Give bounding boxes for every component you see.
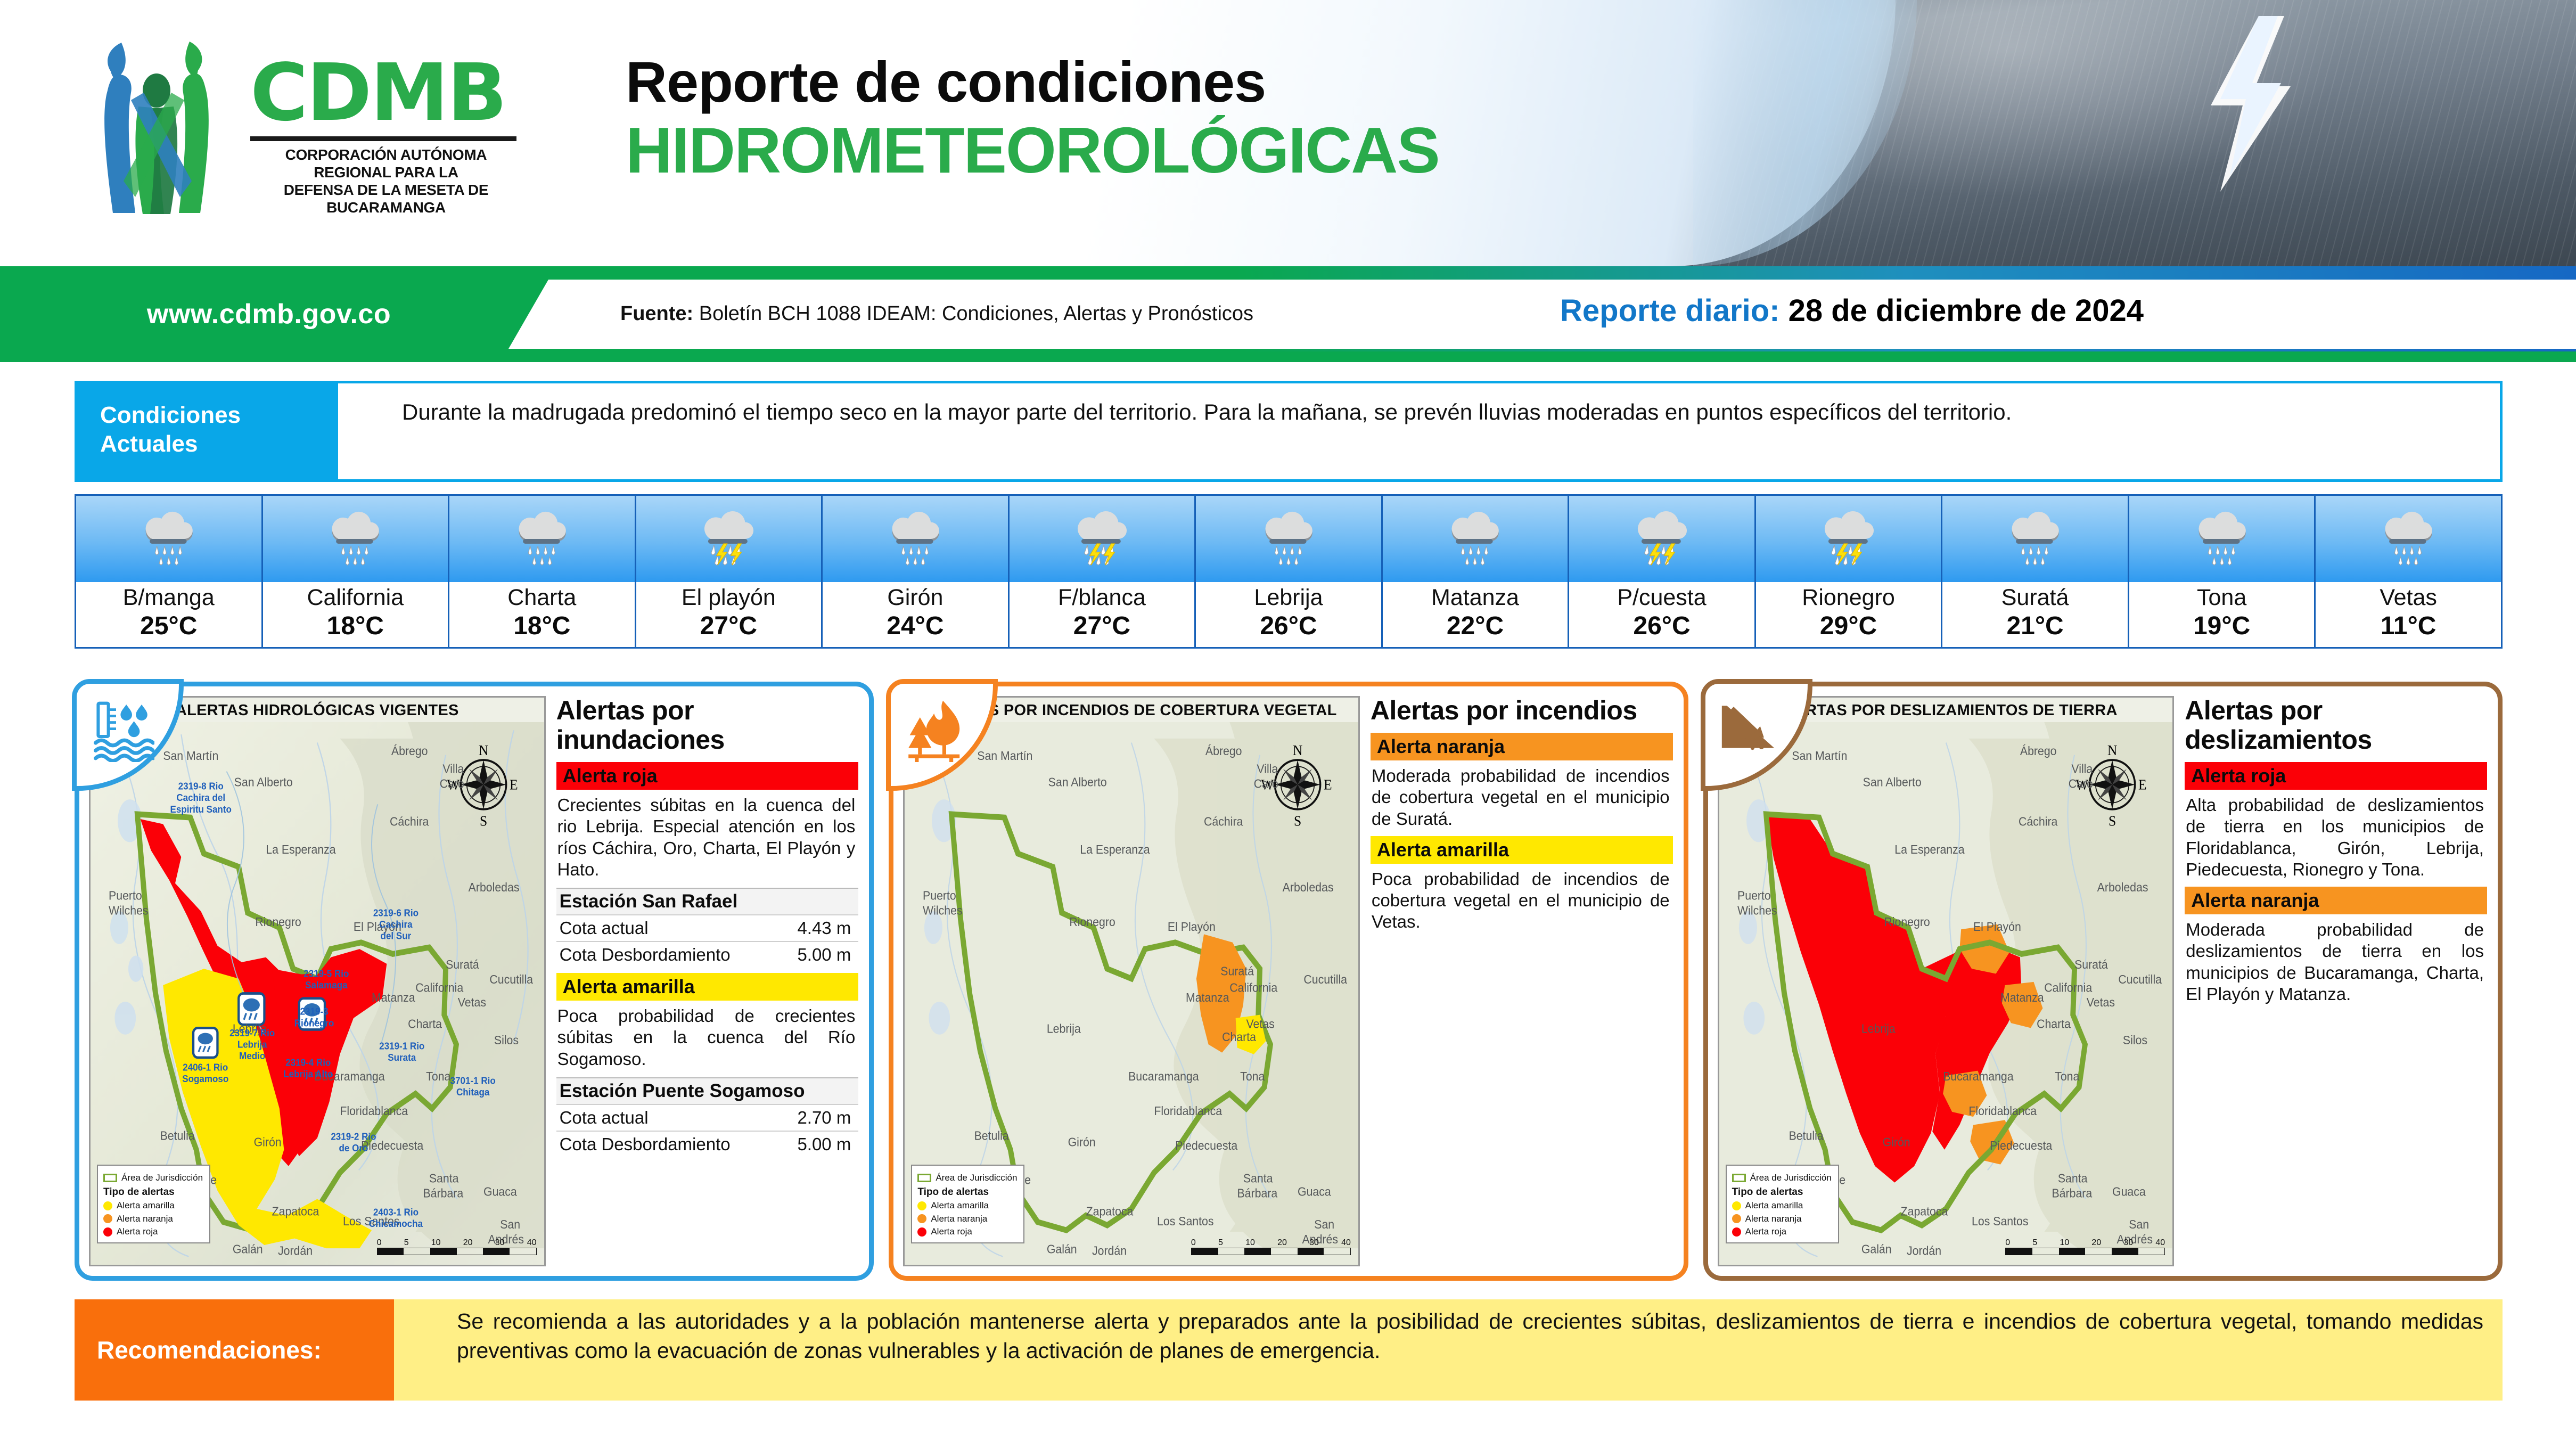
svg-text:Suratá: Suratá (2074, 957, 2108, 971)
svg-text:Guaca: Guaca (483, 1184, 517, 1198)
legend-item-orange: Alerta naranja (1745, 1214, 1802, 1224)
scale-ticks: 0 5 10 20 30 40 (377, 1238, 537, 1248)
weather-cell-tona: Tona19°C (2129, 496, 2316, 647)
weather-temperature: 11°C (2381, 613, 2436, 639)
scale-tick-20: 20 (1277, 1238, 1287, 1248)
report-date: Reporte diario: 28 de diciembre de 2024 (1560, 293, 2144, 329)
scale-bar (377, 1248, 537, 1255)
page-header: CDMB CORPORACIÓN AUTÓNOMA REGIONAL PARA … (0, 0, 2576, 266)
svg-text:Bucaramanga: Bucaramanga (1128, 1069, 1199, 1083)
svg-text:Rionegro: Rionegro (255, 915, 301, 929)
svg-text:2319-3: 2319-3 (300, 1006, 329, 1017)
fires-map-scale: 0 5 10 20 30 40 Km (1191, 1238, 1351, 1255)
svg-text:Cáchira: Cáchira (1204, 815, 1243, 829)
thunderstorm-icon (636, 496, 822, 582)
legend-dot-yellow (917, 1201, 926, 1210)
jurisdiction-label: Área de Jurisdicción (1750, 1173, 1832, 1183)
weather-temperature: 24°C (887, 613, 944, 639)
svg-text:Charta: Charta (408, 1017, 442, 1031)
floods-map-scale: 0 5 10 20 30 40 Km (377, 1238, 537, 1255)
svg-text:Rionegro: Rionegro (1070, 915, 1115, 929)
floods-station1-row0-label: Cota actual (560, 918, 649, 938)
svg-text:California: California (1230, 981, 1278, 995)
weather-temperature: 22°C (1447, 613, 1504, 639)
fires-alert2-label: Alerta amarilla (1371, 836, 1673, 864)
svg-text:Lebrija: Lebrija (1047, 1022, 1081, 1036)
rain-cloud-icon (1196, 496, 1381, 582)
rain-cloud-icon (449, 496, 635, 582)
weather-cell-california: California18°C (263, 496, 450, 647)
floods-alert2-text: Poca probabilidad de crecientes súbitas … (556, 1001, 859, 1071)
source-credit: Fuente: Boletín BCH 1088 IDEAM: Condicio… (620, 302, 1253, 325)
thunderstorm-icon (1569, 496, 1754, 582)
svg-text:2319-5 Rio: 2319-5 Rio (303, 968, 349, 979)
weather-temperature: 26°C (1633, 613, 1690, 639)
cdmb-logo-mark-icon (80, 37, 256, 218)
svg-text:Puerto: Puerto (109, 889, 142, 903)
scale-bar (2005, 1248, 2165, 1255)
scale-tick-40: 40 (2155, 1238, 2165, 1248)
svg-text:Caro: Caro (1254, 777, 1278, 791)
svg-text:Lebrija: Lebrija (237, 1039, 267, 1050)
svg-text:La Esperanza: La Esperanza (1894, 842, 1965, 856)
weather-cell-el-play-n: El playón27°C (636, 496, 823, 647)
svg-text:Floridablanca: Floridablanca (1968, 1104, 2037, 1118)
legend-title: Tipo de alertas (1732, 1186, 1832, 1198)
svg-text:2319-4 Rio: 2319-4 Rio (285, 1057, 331, 1068)
fires-alert1-label: Alerta naranja (1371, 733, 1673, 760)
svg-text:Zapatoca: Zapatoca (272, 1205, 319, 1218)
recommendations-tag: Recomendaciones: (75, 1299, 442, 1401)
landslides-map-legend: Área de Jurisdicción Tipo de alertas Ale… (1726, 1165, 1839, 1243)
svg-text:Guaca: Guaca (2112, 1184, 2146, 1198)
report-date-label: Reporte diario: (1560, 293, 1780, 328)
scale-tick-5: 5 (1218, 1238, 1223, 1248)
thunderstorm-icon (1756, 496, 1941, 582)
svg-text:Tona: Tona (426, 1069, 451, 1083)
weather-temperature: 27°C (1073, 613, 1130, 639)
legend-title: Tipo de alertas (917, 1186, 1017, 1198)
scale-tick-5: 5 (2032, 1238, 2037, 1248)
svg-text:San Alberto: San Alberto (1863, 775, 1921, 789)
fires-text-column: Alertas por incendios Alerta naranja Mod… (1368, 696, 1673, 1266)
title-line-2: HIDROMETEOROLÓGICAS (626, 116, 1439, 184)
weather-city-name: Charta (507, 586, 576, 609)
landslides-heading: Alertas por deslizamientos (2185, 696, 2487, 755)
rain-cloud-icon (1383, 496, 1568, 582)
floods-alert1-text: Crecientes súbitas en la cuenca del rio … (556, 790, 859, 881)
svg-text:Caro: Caro (440, 777, 464, 791)
recommendations: Recomendaciones: Se recomienda a las aut… (75, 1299, 2503, 1406)
website-url[interactable]: www.cdmb.gov.co (0, 266, 538, 362)
weather-cell-vetas: Vetas11°C (2316, 496, 2501, 647)
legend-item-red: Alerta roja (1745, 1226, 1786, 1237)
weather-city-name: Vetas (2380, 586, 2437, 609)
landslide-icon (1719, 698, 1783, 762)
svg-text:Cachira del: Cachira del (176, 792, 225, 804)
svg-text:N: N (479, 742, 488, 758)
landslides-map-scale: 0 5 10 20 30 40 Km (2005, 1238, 2165, 1255)
svg-text:Puerto: Puerto (923, 889, 956, 903)
weather-city-name: Lebrija (1254, 586, 1323, 609)
water-level-gauge-icon (91, 698, 154, 762)
weather-cell-surat-: Suratá21°C (1942, 496, 2129, 647)
floods-station2-row0-value: 2.70 m (797, 1108, 851, 1128)
svg-text:Cucutilla: Cucutilla (489, 972, 533, 986)
floods-text-column: Alertas por inundaciones Alerta roja Cre… (554, 696, 859, 1266)
svg-text:Ábrego: Ábrego (391, 744, 428, 758)
floods-station2-row1-value: 5.00 m (797, 1134, 851, 1155)
svg-text:Matanza: Matanza (2000, 990, 2044, 1004)
svg-text:Girón: Girón (1882, 1135, 1910, 1149)
svg-text:Charta: Charta (1222, 1030, 1256, 1044)
svg-text:Matanza: Matanza (1186, 990, 1229, 1004)
weather-temperature: 21°C (2006, 613, 2063, 639)
page-title: Reporte de condiciones HIDROMETEOROLÓGIC… (626, 51, 1439, 184)
report-date-value: 28 de diciembre de 2024 (1789, 293, 2144, 328)
legend-dot-yellow (103, 1201, 112, 1210)
svg-text:Cucutilla: Cucutilla (2118, 972, 2162, 986)
svg-text:Cucutilla: Cucutilla (1304, 972, 1348, 986)
svg-text:2319-8 Rio: 2319-8 Rio (178, 781, 224, 792)
table-row: Cota Desbordamiento 5.00 m (556, 1131, 859, 1157)
svg-text:La Esperanza: La Esperanza (1080, 842, 1151, 856)
weather-cell-f-blanca: F/blanca27°C (1010, 496, 1196, 647)
svg-text:3701-1 Rio: 3701-1 Rio (450, 1075, 496, 1086)
floods-station2-row1-label: Cota Desbordamiento (560, 1134, 731, 1155)
svg-text:Suratá: Suratá (446, 957, 479, 971)
scale-tick-5: 5 (404, 1238, 409, 1248)
svg-text:Wilches: Wilches (923, 903, 963, 917)
table-row: Cota actual 4.43 m (556, 914, 859, 941)
svg-text:Matanza: Matanza (372, 990, 415, 1004)
floods-station1-row1-value: 5.00 m (797, 945, 851, 965)
svg-text:Salamaga: Salamaga (305, 980, 348, 991)
svg-text:Silos: Silos (494, 1033, 519, 1047)
svg-text:Piedecuesta: Piedecuesta (1990, 1139, 2053, 1152)
svg-text:Rionegro: Rionegro (1884, 915, 1930, 929)
svg-text:Bárbara: Bárbara (2052, 1186, 2092, 1200)
weather-cell-lebrija: Lebrija26°C (1196, 496, 1383, 647)
lightning-bolt-icon (2166, 16, 2326, 192)
weather-temperature: 18°C (327, 613, 384, 639)
svg-text:El Playón: El Playón (1973, 920, 2021, 934)
landslides-text-column: Alertas por deslizamientos Alerta roja A… (2183, 696, 2487, 1266)
svg-text:E: E (510, 776, 518, 793)
scale-unit: Km (545, 1244, 546, 1255)
svg-text:2403-1 Rio: 2403-1 Rio (373, 1207, 419, 1218)
weather-city-name: Girón (887, 586, 943, 609)
svg-text:Charta: Charta (2037, 1017, 2071, 1031)
svg-text:2319-7 Rio: 2319-7 Rio (229, 1027, 275, 1038)
weather-cell-gir-n: Girón24°C (823, 496, 1010, 647)
svg-text:Arboledas: Arboledas (2097, 880, 2148, 894)
svg-text:Ábrego: Ábrego (1205, 744, 1242, 758)
svg-text:San Martín: San Martín (1792, 749, 1847, 763)
weather-city-name: F/blanca (1058, 586, 1146, 609)
scale-tick-40: 40 (1341, 1238, 1351, 1248)
svg-text:Floridablanca: Floridablanca (340, 1104, 408, 1118)
jurisdiction-label: Área de Jurisdicción (121, 1173, 203, 1183)
svg-text:Betulia: Betulia (160, 1128, 195, 1142)
fires-alert2-text: Poca probabilidad de incendios de cobert… (1371, 864, 1673, 934)
floods-alert1-label: Alerta roja (556, 762, 859, 790)
weather-city-name: Suratá (2001, 586, 2069, 609)
source-label: Fuente: (620, 302, 693, 325)
landslides-alert2-label: Alerta naranja (2185, 887, 2487, 914)
weather-city-name: California (307, 586, 404, 609)
legend-item-red: Alerta roja (117, 1226, 158, 1237)
svg-text:del Sur: del Sur (381, 930, 412, 942)
svg-text:Jordán: Jordán (278, 1244, 313, 1258)
jurisdiction-swatch (1732, 1174, 1746, 1182)
weather-city-name: Matanza (1431, 586, 1519, 609)
svg-text:Vetas: Vetas (458, 995, 486, 1009)
legend-item-red: Alerta roja (931, 1226, 972, 1237)
svg-text:Vetas: Vetas (2086, 995, 2114, 1009)
svg-text:Santa: Santa (2058, 1172, 2088, 1185)
legend-dot-yellow (1732, 1201, 1741, 1210)
svg-text:Rionegro: Rionegro (294, 1018, 334, 1029)
current-conditions: Condiciones Actuales Durante la madrugad… (75, 381, 2503, 482)
svg-text:Ábrego: Ábrego (2020, 744, 2057, 758)
legend-dot-red (917, 1227, 926, 1237)
scale-tick-10: 10 (2060, 1238, 2069, 1248)
legend-dot-red (1732, 1227, 1741, 1237)
svg-text:Villa: Villa (2071, 762, 2093, 776)
svg-text:Medio: Medio (239, 1050, 265, 1061)
fires-alert1-text: Moderada probabilidad de incendios de co… (1371, 760, 1673, 831)
weather-city-name: B/manga (123, 586, 215, 609)
svg-text:Piedecuesta: Piedecuesta (1175, 1139, 1238, 1152)
svg-text:La Esperanza: La Esperanza (266, 842, 336, 856)
svg-text:Arboledas: Arboledas (1283, 880, 1334, 894)
svg-text:2406-1 Rio: 2406-1 Rio (183, 1062, 228, 1073)
scale-tick-30: 30 (2123, 1238, 2133, 1248)
scale-tick-0: 0 (2005, 1238, 2010, 1248)
svg-text:San: San (2129, 1217, 2149, 1231)
legend-item-yellow: Alerta amarilla (931, 1200, 989, 1211)
cdmb-logo: CDMB CORPORACIÓN AUTÓNOMA REGIONAL PARA … (80, 37, 607, 229)
svg-text:Galán: Galán (1047, 1242, 1077, 1256)
rain-cloud-icon (2316, 496, 2501, 582)
landslides-alert2-text: Moderada probabilidad de deslizamientos … (2185, 914, 2487, 1006)
svg-text:S: S (480, 813, 487, 829)
svg-text:Arboledas: Arboledas (469, 880, 520, 894)
svg-text:Villa: Villa (1257, 762, 1278, 776)
fires-map[interactable]: ALERTAS POR INCENDIOS DE COBERTURA VEGET… (903, 696, 1360, 1266)
svg-text:Jordán: Jordán (1092, 1244, 1127, 1258)
weather-cell-matanza: Matanza22°C (1383, 496, 1570, 647)
scale-tick-20: 20 (463, 1238, 473, 1248)
floods-station1-name: Estación San Rafael (556, 888, 859, 914)
floods-station2-name: Estación Puente Sogamoso (556, 1077, 859, 1104)
table-row: Cota Desbordamiento 5.00 m (556, 941, 859, 968)
svg-text:El Playón: El Playón (1168, 920, 1216, 934)
landslides-map[interactable]: ALERTAS POR DESLIZAMIENTOS DE TIERRA (1718, 696, 2175, 1266)
svg-text:S: S (2109, 813, 2116, 829)
legend-dot-orange (103, 1214, 112, 1223)
scale-tick-0: 0 (377, 1238, 382, 1248)
panel-landslides: ALERTAS POR DESLIZAMIENTOS DE TIERRA (1703, 682, 2503, 1281)
svg-text:Lebrija Alto: Lebrija Alto (283, 1068, 333, 1079)
weather-temperature: 25°C (140, 613, 197, 639)
info-bar: www.cdmb.gov.co Fuente: Boletín BCH 1088… (0, 266, 2576, 362)
legend-item-yellow: Alerta amarilla (117, 1200, 175, 1211)
scale-tick-10: 10 (431, 1238, 441, 1248)
svg-text:Vetas: Vetas (1246, 1017, 1275, 1031)
weather-city-name: Rionegro (1802, 586, 1895, 609)
title-line-1: Reporte de condiciones (626, 51, 1439, 114)
svg-text:2319-2 Rio: 2319-2 Rio (331, 1131, 376, 1142)
svg-text:Suratá: Suratá (1221, 964, 1254, 978)
landslides-alert1-text: Alta probabilidad de deslizamientos de t… (2185, 790, 2487, 881)
svg-text:N: N (1293, 742, 1302, 758)
svg-text:de Oro: de Oro (339, 1142, 368, 1153)
svg-text:N: N (2107, 742, 2116, 758)
svg-text:Floridablanca: Floridablanca (1154, 1104, 1223, 1118)
svg-text:Villa: Villa (442, 762, 464, 776)
svg-text:Tona: Tona (2055, 1069, 2080, 1083)
svg-text:Santa: Santa (1243, 1172, 1273, 1185)
weather-cell-charta: Charta18°C (449, 496, 636, 647)
floods-alert2-label: Alerta amarilla (556, 973, 859, 1001)
scale-tick-0: 0 (1191, 1238, 1196, 1248)
legend-dot-orange (917, 1214, 926, 1223)
scale-unit: Km (2173, 1244, 2174, 1255)
floods-station1-row0-value: 4.43 m (797, 918, 851, 938)
source-text: Boletín BCH 1088 IDEAM: Condiciones, Ale… (699, 302, 1253, 325)
svg-text:San Martín: San Martín (163, 749, 218, 763)
weather-strip: B/manga25°C California18°C Charta18°C El… (75, 494, 2503, 649)
weather-cell-rionegro: Rionegro29°C (1756, 496, 1943, 647)
legend-title: Tipo de alertas (103, 1186, 203, 1198)
svg-text:Lebrija: Lebrija (1861, 1022, 1895, 1036)
svg-text:Cáchira: Cáchira (390, 815, 429, 829)
svg-text:2319-1 Rio: 2319-1 Rio (379, 1041, 424, 1052)
svg-text:E: E (1324, 776, 1332, 793)
table-row: Cota actual 2.70 m (556, 1104, 859, 1131)
svg-text:Caro: Caro (2068, 777, 2093, 791)
alert-panels-row: ALERTAS HIDROLÓGICAS VIGENTES (75, 682, 2503, 1281)
svg-text:Surata: Surata (388, 1052, 416, 1063)
svg-text:Tona: Tona (1241, 1069, 1266, 1083)
weather-cell-p-cuesta: P/cuesta26°C (1569, 496, 1756, 647)
rain-cloud-icon (823, 496, 1008, 582)
svg-text:E: E (2138, 776, 2147, 793)
svg-text:Bárbara: Bárbara (423, 1186, 464, 1200)
fires-map-legend: Área de Jurisdicción Tipo de alertas Ale… (911, 1165, 1024, 1243)
jurisdiction-swatch (103, 1174, 117, 1182)
svg-text:Chicamocha: Chicamocha (369, 1218, 423, 1229)
scale-tick-40: 40 (527, 1238, 537, 1248)
svg-text:Betulia: Betulia (974, 1128, 1010, 1142)
svg-text:San Alberto: San Alberto (1048, 775, 1107, 789)
svg-text:Sogamoso: Sogamoso (182, 1074, 228, 1085)
fires-heading: Alertas por incendios (1371, 696, 1673, 725)
svg-text:Jordán: Jordán (1907, 1244, 1941, 1258)
svg-text:Wilches: Wilches (109, 903, 149, 917)
legend-item-orange: Alerta naranja (931, 1214, 987, 1224)
floods-map-legend: Área de Jurisdicción Tipo de alertas Ale… (97, 1165, 210, 1243)
scale-bar (1191, 1248, 1351, 1255)
fire-forest-icon (905, 698, 969, 762)
jurisdiction-swatch (917, 1174, 931, 1182)
legend-dot-orange (1732, 1214, 1741, 1223)
svg-text:S: S (1294, 813, 1301, 829)
logo-subtitle: CORPORACIÓN AUTÓNOMA REGIONAL PARA LA DE… (250, 146, 522, 216)
floods-map[interactable]: ALERTAS HIDROLÓGICAS VIGENTES (89, 696, 546, 1266)
svg-text:Zapatoca: Zapatoca (1900, 1205, 1948, 1218)
recommendations-text: Se recomienda a las autoridades y a la p… (394, 1299, 2503, 1401)
svg-text:Santa: Santa (429, 1172, 459, 1185)
svg-text:Guaca: Guaca (1298, 1184, 1331, 1198)
svg-text:San Martín: San Martín (978, 749, 1033, 763)
svg-text:San: San (500, 1217, 520, 1231)
svg-text:Espiritu Santo: Espiritu Santo (170, 804, 232, 815)
svg-text:Wilches: Wilches (1737, 903, 1777, 917)
weather-temperature: 18°C (513, 613, 570, 639)
svg-text:2319-6 Rio: 2319-6 Rio (373, 907, 419, 919)
weather-temperature: 27°C (700, 613, 757, 639)
panel-floods: ALERTAS HIDROLÓGICAS VIGENTES (75, 682, 874, 1281)
svg-text:Galán: Galán (233, 1242, 263, 1256)
svg-text:Los Santos: Los Santos (1157, 1214, 1213, 1228)
logo-subtitle-line1: CORPORACIÓN AUTÓNOMA REGIONAL PARA LA (250, 146, 522, 181)
svg-text:Girón: Girón (254, 1135, 282, 1149)
weather-temperature: 26°C (1260, 613, 1317, 639)
rain-cloud-icon (263, 496, 448, 582)
svg-text:Girón: Girón (1068, 1135, 1096, 1149)
svg-text:San: San (1315, 1217, 1335, 1231)
weather-city-name: El playón (682, 586, 776, 609)
svg-text:California: California (2044, 981, 2092, 995)
rain-cloud-icon (1942, 496, 2128, 582)
panel-fires: ALERTAS POR INCENDIOS DE COBERTURA VEGET… (889, 682, 1688, 1281)
scale-tick-30: 30 (1309, 1238, 1319, 1248)
legend-item-orange: Alerta naranja (117, 1214, 173, 1224)
svg-text:Silos: Silos (2123, 1033, 2147, 1047)
weather-temperature: 19°C (2193, 613, 2250, 639)
svg-text:Cáchira: Cáchira (2019, 815, 2058, 829)
rain-cloud-icon (2129, 496, 2315, 582)
floods-station2-row0-label: Cota actual (560, 1108, 649, 1128)
svg-text:Los Santos: Los Santos (1972, 1214, 2028, 1228)
floods-heading: Alertas por inundaciones (556, 696, 859, 755)
svg-text:Betulia: Betulia (1789, 1128, 1824, 1142)
landslides-alert1-label: Alerta roja (2185, 762, 2487, 790)
legend-item-yellow: Alerta amarilla (1745, 1200, 1803, 1211)
scale-tick-30: 30 (495, 1238, 505, 1248)
weather-city-name: P/cuesta (1617, 586, 1706, 609)
green-divider (0, 351, 2576, 362)
weather-cell-b-manga: B/manga25°C (76, 496, 263, 647)
logo-acronym: CDMB (250, 53, 522, 132)
svg-text:San Alberto: San Alberto (234, 775, 293, 789)
svg-text:Galán: Galán (1861, 1242, 1891, 1256)
current-conditions-text: Durante la madrugada predominó el tiempo… (338, 381, 2503, 482)
svg-text:Bucaramanga: Bucaramanga (1943, 1069, 2014, 1083)
scale-tick-10: 10 (1245, 1238, 1255, 1248)
legend-dot-red (103, 1227, 112, 1237)
svg-text:Zapatoca: Zapatoca (1086, 1205, 1134, 1218)
floods-station1-row1-label: Cota Desbordamiento (560, 945, 731, 965)
svg-text:Bárbara: Bárbara (1237, 1186, 1278, 1200)
rain-cloud-icon (76, 496, 261, 582)
scale-tick-20: 20 (2091, 1238, 2101, 1248)
svg-text:Puerto: Puerto (1737, 889, 1771, 903)
scale-unit: Km (1359, 1244, 1360, 1255)
